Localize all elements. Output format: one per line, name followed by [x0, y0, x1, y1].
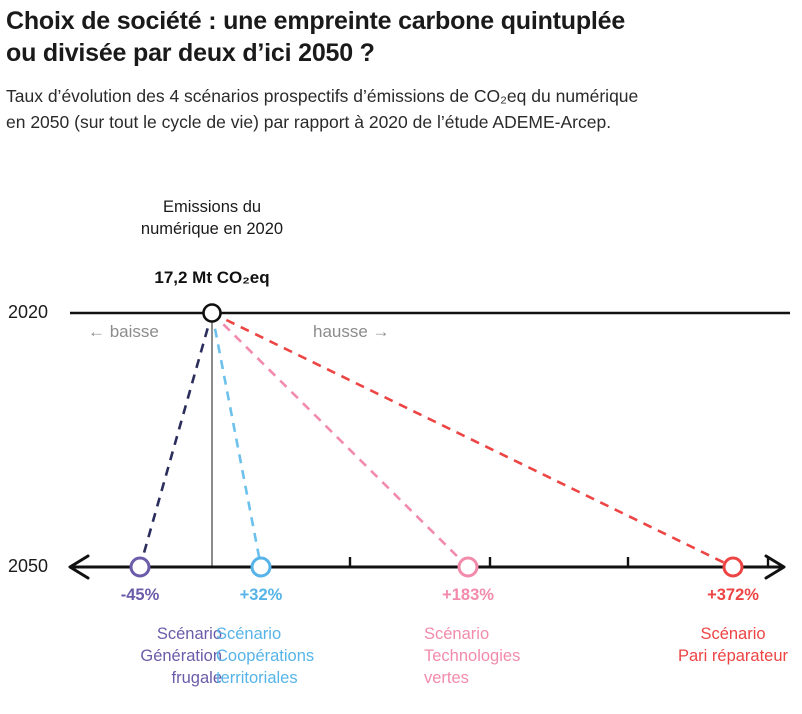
- connector-line-generation-frugale: [140, 313, 212, 567]
- page-title: Choix de société : une empreinte carbone…: [0, 0, 802, 69]
- marker-pari-reparateur[interactable]: [724, 558, 742, 576]
- callout-value: 17,2 Mt CO₂eq: [62, 268, 362, 288]
- pct-label-generation-frugale: -45%: [121, 586, 160, 605]
- scenario-label-cooperations-territoriales: Scénario Coopérations territoriales: [216, 624, 366, 689]
- marker-generation-frugale[interactable]: [131, 558, 149, 576]
- connector-line-technologies-vertes: [212, 313, 468, 567]
- scenario-label-generation-frugale: Scénario Génération frugale: [92, 624, 222, 689]
- chart-subtitle: Taux d’évolution des 4 scénarios prospec…: [0, 69, 802, 136]
- pct-label-cooperations-territoriales: +32%: [240, 586, 283, 605]
- axis-label-2020: 2020: [8, 302, 48, 323]
- origin-marker-2020: [204, 305, 221, 322]
- header: Choix de société : une empreinte carbone…: [0, 0, 802, 136]
- axis-label-2050: 2050: [8, 556, 48, 577]
- callout-text: Emissions du numérique en 2020: [62, 196, 362, 241]
- direction-label-increase: hausse →: [313, 322, 390, 342]
- connector-line-pari-reparateur: [212, 313, 733, 567]
- scenario-label-pari-reparateur: Scénario Pari réparateur: [638, 624, 802, 668]
- marker-technologies-vertes[interactable]: [459, 558, 477, 576]
- connector-line-cooperations-territoriales: [212, 313, 261, 567]
- chart-plot-area: Emissions du numérique en 2020 17,2 Mt C…: [0, 170, 802, 714]
- pct-label-pari-reparateur: +372%: [707, 586, 759, 605]
- scenario-label-technologies-vertes: Scénario Technologies vertes: [424, 624, 574, 689]
- direction-label-decrease: ← baisse: [88, 322, 159, 342]
- marker-cooperations-territoriales[interactable]: [252, 558, 270, 576]
- pct-label-technologies-vertes: +183%: [442, 586, 494, 605]
